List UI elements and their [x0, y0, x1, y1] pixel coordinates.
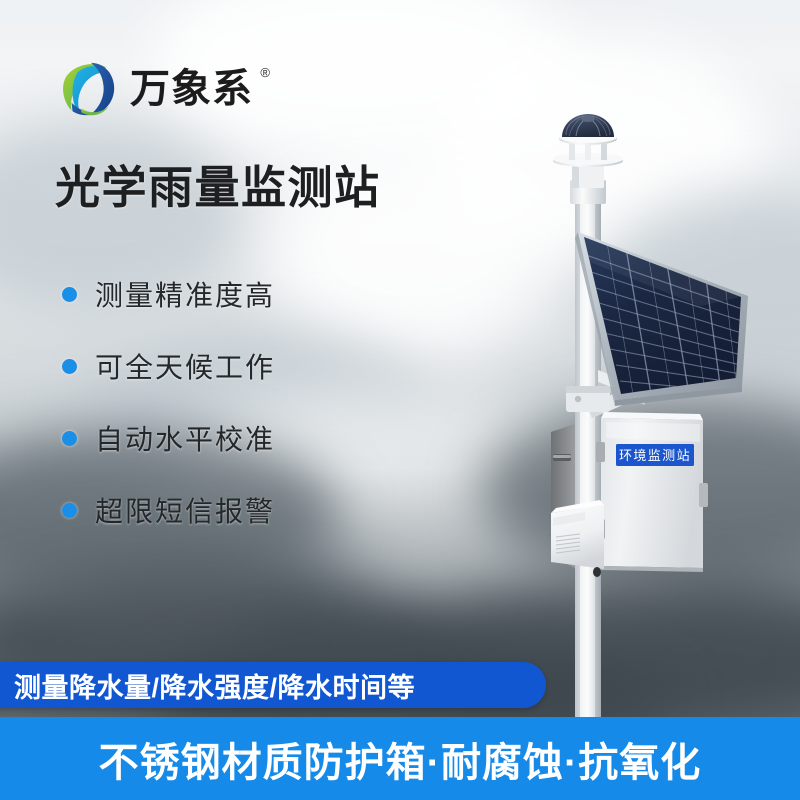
capability-banner: 测量降水量/降水强度/降水时间等 [0, 662, 546, 708]
product-poster: 环境监测站 [0, 0, 800, 800]
feature-item: 测量精准度高 [62, 258, 362, 330]
vented-junction-box [551, 500, 604, 577]
enclosure-latch [699, 483, 708, 507]
optical-rain-sensor [553, 114, 623, 204]
feature-list: 测量精准度高 可全天候工作 自动水平校准 超限短信报警 [62, 258, 362, 546]
bottom-feature-bar: 不锈钢材质防护箱·耐腐蚀·抗氧化 [0, 717, 800, 800]
page-title: 光学雨量监测站 [55, 163, 381, 213]
globe-swoosh-logo-icon [58, 58, 120, 120]
bottom-feature-bar-text: 不锈钢材质防护箱·耐腐蚀·抗氧化 [99, 730, 702, 788]
feature-item: 自动水平校准 [62, 402, 362, 474]
blue-dot-bullet-icon [62, 359, 77, 374]
blue-dot-bullet-icon [62, 287, 77, 302]
enclosure-label-text: 环境监测站 [619, 448, 691, 463]
blue-dot-bullet-icon [62, 431, 77, 446]
brand-name: 万象系 [130, 69, 253, 109]
capability-banner-text: 测量降水量/降水强度/降水时间等 [0, 666, 415, 705]
feature-label: 可全天候工作 [95, 346, 275, 386]
registered-trademark-mark: ® [260, 65, 270, 80]
feature-label: 测量精准度高 [95, 274, 275, 314]
enclosure-hinge [596, 442, 605, 462]
brand-logo: 万象系 ® [58, 58, 253, 120]
feature-item: 超限短信报警 [62, 474, 362, 546]
cable-gland [593, 567, 601, 577]
feature-item: 可全天候工作 [62, 330, 362, 402]
blue-dot-bullet-icon [62, 503, 77, 518]
feature-label: 自动水平校准 [95, 418, 275, 458]
feature-label: 超限短信报警 [95, 490, 275, 530]
